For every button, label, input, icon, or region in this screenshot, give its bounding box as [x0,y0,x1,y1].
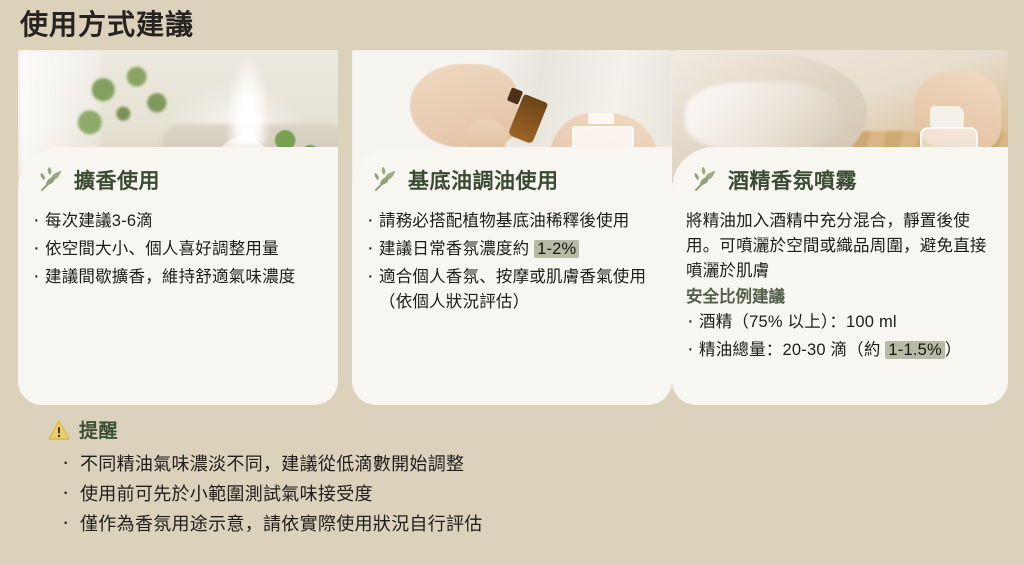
card-panel-carrier-oil: 基底油調油使用 請務必搭配植物基底油稀釋後使用 建議日常香氛濃度約 1-2% 適… [352,147,672,405]
reminder-title: 提醒 [79,416,118,443]
card-panel-alcohol-spray: 酒精香氛噴霧 將精油加入酒精中充分混合，靜置後使用。可噴灑於空間或織品周圍，避免… [672,147,1008,405]
card-body-alcohol-spray: 將精油加入酒精中充分混合，靜置後使用。可噴灑於空間或織品周圍，避免直接噴灑於肌膚… [686,201,994,363]
card-title: 擴香使用 [74,165,160,195]
list-item: 建議日常香氛濃度約 1-2% [366,237,658,262]
reminder-block: 提醒 不同精油氣味濃淡不同，建議從低滴數開始調整 使用前可先於小範圍測試氣味接受… [48,416,748,539]
card-panel-diffuser: 擴香使用 每次建議3-6滴 依空間大小、個人喜好調整用量 建議間歇擴香，維持舒適… [18,147,338,405]
card-body-diffuser: 每次建議3-6滴 依空間大小、個人喜好調整用量 建議間歇擴香，維持舒適氣味濃度 [32,201,324,290]
leaf-branch-icon [692,167,720,193]
card-header-carrier-oil: 基底油調油使用 [366,159,658,201]
list-item: 酒精（75% 以上）：100 ml [686,310,994,335]
usage-card-alcohol-spray: 酒精香氛噴霧 將精油加入酒精中充分混合，靜置後使用。可噴灑於空間或織品周圍，避免… [672,50,1008,405]
usage-card-diffuser: 擴香使用 每次建議3-6滴 依空間大小、個人喜好調整用量 建議間歇擴香，維持舒適… [18,50,338,405]
leaf-branch-icon [38,167,66,193]
usage-card-carrier-oil: 基底油調油使用 請務必搭配植物基底油稀釋後使用 建議日常香氛濃度約 1-2% 適… [352,50,672,405]
list-item: 依空間大小、個人喜好調整用量 [32,237,324,262]
concentration-highlight: 1-2% [534,240,579,258]
list-item: 請務必搭配植物基底油稀釋後使用 [366,209,658,234]
list-item-suffix: ） [945,341,962,359]
list-item: 使用前可先於小範圍測試氣味接受度 [62,479,748,509]
warning-triangle-icon [48,420,70,440]
list-item: 適合個人香氛、按摩或肌膚香氣使用（依個人狀況評估） [366,265,658,315]
list-item: 不同精油氣味濃淡不同，建議從低滴數開始調整 [62,449,748,479]
bullet-list: 酒精（75% 以上）：100 ml 精油總量：20-30 滴（約 1-1.5%） [686,310,994,363]
card-title: 酒精香氛噴霧 [728,165,857,195]
infographic-root: 使用方式建議 [0,0,1024,565]
card-body-carrier-oil: 請務必搭配植物基底油稀釋後使用 建議日常香氛濃度約 1-2% 適合個人香氛、按摩… [366,201,658,315]
list-item: 建議間歇擴香，維持舒適氣味濃度 [32,265,324,290]
cards-row: 擴香使用 每次建議3-6滴 依空間大小、個人喜好調整用量 建議間歇擴香，維持舒適… [18,50,1008,405]
list-item-text: 精油總量：20-30 滴（約 [699,341,885,359]
card-header-diffuser: 擴香使用 [32,159,324,201]
bullet-list: 每次建議3-6滴 依空間大小、個人喜好調整用量 建議間歇擴香，維持舒適氣味濃度 [32,209,324,290]
list-item: 僅作為香氛用途示意，請依實際使用狀況自行評估 [62,509,748,539]
page-title: 使用方式建議 [20,8,194,42]
safety-ratio-subhead: 安全比例建議 [686,285,994,310]
reminder-list: 不同精油氣味濃淡不同，建議從低滴數開始調整 使用前可先於小範圍測試氣味接受度 僅… [48,449,748,539]
list-item: 精油總量：20-30 滴（約 1-1.5%） [686,338,994,363]
list-item: 每次建議3-6滴 [32,209,324,234]
reminder-header: 提醒 [48,416,748,443]
card-header-alcohol-spray: 酒精香氛噴霧 [686,159,994,201]
concentration-highlight: 1-1.5% [885,341,944,359]
list-item-text: 建議日常香氛濃度約 [379,240,534,258]
card-title: 基底油調油使用 [408,165,559,195]
card-paragraph: 將精油加入酒精中充分混合，靜置後使用。可噴灑於空間或織品周圍，避免直接噴灑於肌膚 [686,209,994,284]
leaf-branch-icon [372,167,400,193]
bullet-list: 請務必搭配植物基底油稀釋後使用 建議日常香氛濃度約 1-2% 適合個人香氛、按摩… [366,209,658,315]
